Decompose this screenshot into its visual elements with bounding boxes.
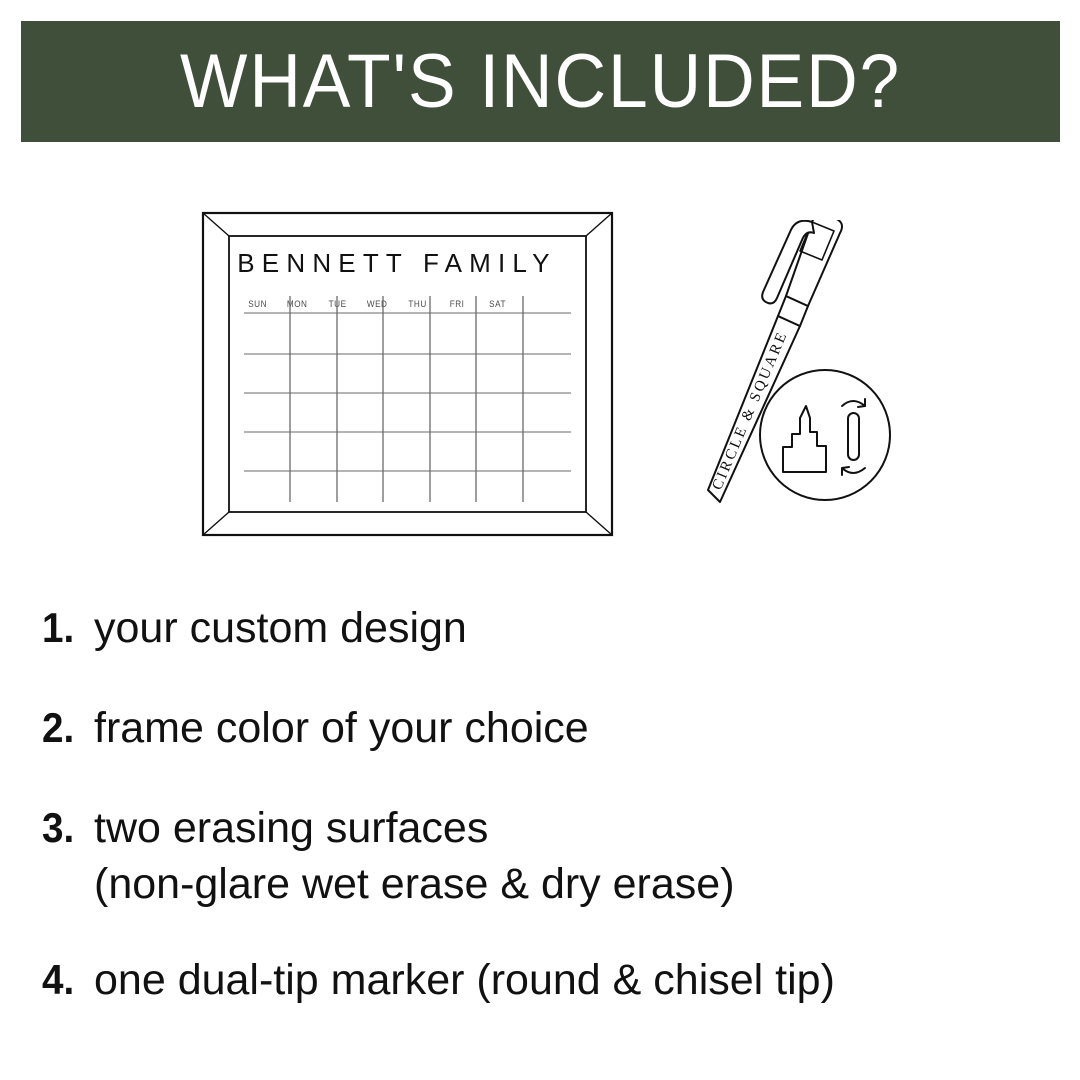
list-item-number: 3.	[42, 800, 90, 856]
header-banner: WHAT'S INCLUDED?	[21, 21, 1060, 142]
list-item-body: frame color of your choice	[94, 700, 589, 756]
framed-calendar-illustration: BENNETT FAMILY SUN MON TUE WED THU FRI S…	[200, 210, 615, 538]
marker-svg: CIRCLE & SQUARE	[700, 220, 895, 520]
list-item-line: your custom design	[94, 604, 467, 652]
day-label-sun: SUN	[248, 298, 267, 309]
list-item-number: 1.	[42, 600, 90, 656]
list-item: 2. frame color of your choice	[42, 700, 589, 756]
list-item: 4. one dual-tip marker (round & chisel t…	[42, 952, 835, 1008]
day-label-sat: SAT	[489, 298, 506, 309]
list-item-number: 4.	[42, 952, 90, 1008]
list-item-line: two erasing surfaces	[94, 804, 488, 852]
calendar-board-svg: BENNETT FAMILY SUN MON TUE WED THU FRI S…	[200, 210, 615, 538]
page-title: WHAT'S INCLUDED?	[180, 44, 901, 120]
tip-detail-outline	[760, 370, 890, 500]
list-item-body: two erasing surfaces (non-glare wet eras…	[94, 800, 1080, 912]
product-illustration: BENNETT FAMILY SUN MON TUE WED THU FRI S…	[0, 160, 1080, 580]
board-family-name: BENNETT FAMILY	[237, 248, 556, 278]
list-item-line: one dual-tip marker (round & chisel tip)	[94, 956, 835, 1004]
day-label-thu: THU	[408, 298, 426, 309]
marker-tip-detail-circle	[760, 370, 890, 500]
list-item: 1. your custom design	[42, 600, 467, 656]
list-item-line: (non-glare wet erase & dry erase)	[94, 860, 735, 908]
dual-tip-marker-illustration: CIRCLE & SQUARE	[700, 220, 895, 520]
day-label-wed: WED	[367, 298, 388, 309]
round-tip-icon	[848, 413, 859, 460]
day-label-fri: FRI	[450, 298, 465, 309]
list-item-number: 2.	[42, 700, 90, 756]
list-item-body: one dual-tip marker (round & chisel tip)	[94, 952, 835, 1008]
list-item-line: frame color of your choice	[94, 704, 589, 752]
list-item: 3. two erasing surfaces (non-glare wet e…	[42, 800, 1080, 912]
list-item-body: your custom design	[94, 600, 467, 656]
